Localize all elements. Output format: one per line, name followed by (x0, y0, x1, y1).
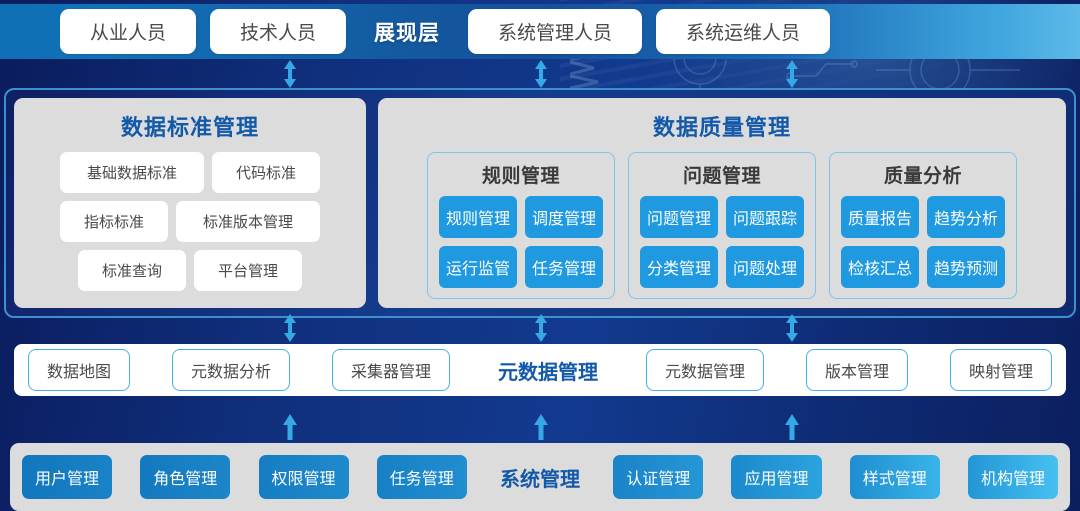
role-button-technician[interactable]: 技术人员 (210, 9, 346, 54)
quality-group-rule-management: 规则管理 规则管理 调度管理 运行监管 任务管理 (427, 152, 615, 299)
role-button-system-ops[interactable]: 系统运维人员 (656, 9, 830, 54)
double-arrow-vertical-icon (785, 60, 799, 88)
double-arrow-vertical-icon (534, 60, 548, 88)
metadata-item-mapping-management[interactable]: 映射管理 (950, 349, 1052, 391)
standards-item-indicator[interactable]: 指标标准 (60, 201, 168, 242)
system-item-role-management[interactable]: 角色管理 (140, 455, 230, 499)
quality-item-check-summary[interactable]: 检核汇总 (841, 246, 919, 288)
arrow-up-icon (283, 414, 297, 440)
system-item-auth-management[interactable]: 认证管理 (613, 455, 703, 499)
quality-item-issue-handling[interactable]: 问题处理 (726, 246, 804, 288)
connector-arrow-row-top (0, 60, 1080, 90)
standards-item-code[interactable]: 代码标准 (212, 152, 320, 193)
connector-arrow-row-middle (0, 314, 1080, 344)
data-quality-panel: 数据质量管理 规则管理 规则管理 调度管理 运行监管 任务管理 问题管理 问题管… (378, 98, 1066, 308)
quality-item-schedule-management[interactable]: 调度管理 (525, 196, 603, 238)
standards-item-version[interactable]: 标准版本管理 (176, 201, 320, 242)
metadata-item-metadata-analysis[interactable]: 元数据分析 (172, 349, 290, 391)
data-standards-items: 基础数据标准 代码标准 指标标准 标准版本管理 标准查询 平台管理 (24, 152, 356, 291)
architecture-diagram: 从业人员 技术人员 展现层 系统管理人员 系统运维人员 数据标准管理 基础数据标… (0, 0, 1080, 511)
system-item-permission-management[interactable]: 权限管理 (259, 455, 349, 499)
quality-item-runtime-monitoring[interactable]: 运行监管 (439, 246, 517, 288)
system-item-style-management[interactable]: 样式管理 (850, 455, 940, 499)
quality-group-quality-analysis: 质量分析 质量报告 趋势分析 检核汇总 趋势预测 (829, 152, 1017, 299)
quality-item-trend-forecast[interactable]: 趋势预测 (927, 246, 1005, 288)
system-item-app-management[interactable]: 应用管理 (731, 455, 821, 499)
role-button-system-admin[interactable]: 系统管理人员 (468, 9, 642, 54)
double-arrow-vertical-icon (283, 314, 297, 342)
connector-arrow-row-bottom (0, 414, 1080, 444)
quality-group-title: 规则管理 (482, 161, 560, 188)
data-standards-panel: 数据标准管理 基础数据标准 代码标准 指标标准 标准版本管理 标准查询 平台管理 (14, 98, 366, 308)
double-arrow-vertical-icon (785, 314, 799, 342)
quality-group-issue-management: 问题管理 问题管理 问题跟踪 分类管理 问题处理 (628, 152, 816, 299)
quality-item-task-management[interactable]: 任务管理 (525, 246, 603, 288)
quality-item-trend-analysis[interactable]: 趋势分析 (927, 196, 1005, 238)
system-item-org-management[interactable]: 机构管理 (968, 455, 1058, 499)
system-layer-panel: 用户管理 角色管理 权限管理 任务管理 系统管理 认证管理 应用管理 样式管理 … (10, 443, 1070, 511)
core-modules-band: 数据标准管理 基础数据标准 代码标准 指标标准 标准版本管理 标准查询 平台管理… (4, 88, 1076, 318)
quality-item-category-management[interactable]: 分类管理 (640, 246, 718, 288)
system-item-task-management[interactable]: 任务管理 (377, 455, 467, 499)
data-standards-title: 数据标准管理 (121, 110, 259, 142)
double-arrow-vertical-icon (283, 60, 297, 88)
standards-item-query[interactable]: 标准查询 (78, 250, 186, 291)
data-quality-title: 数据质量管理 (653, 110, 791, 142)
metadata-item-data-map[interactable]: 数据地图 (28, 349, 130, 391)
metadata-item-collector-management[interactable]: 采集器管理 (332, 349, 450, 391)
standards-item-basic-data[interactable]: 基础数据标准 (60, 152, 204, 193)
metadata-item-metadata-management[interactable]: 元数据管理 (646, 349, 764, 391)
double-arrow-vertical-icon (534, 314, 548, 342)
metadata-layer-label: 元数据管理 (492, 356, 604, 385)
quality-group-title: 问题管理 (683, 161, 761, 188)
quality-item-issue-tracking[interactable]: 问题跟踪 (726, 196, 804, 238)
data-quality-groups: 规则管理 规则管理 调度管理 运行监管 任务管理 问题管理 问题管理 问题跟踪 … (388, 152, 1056, 299)
role-button-practitioner[interactable]: 从业人员 (60, 9, 196, 54)
arrow-up-icon (785, 414, 799, 440)
quality-item-quality-report[interactable]: 质量报告 (841, 196, 919, 238)
arrow-up-icon (534, 414, 548, 440)
standards-item-platform[interactable]: 平台管理 (194, 250, 302, 291)
quality-item-rule-management[interactable]: 规则管理 (439, 196, 517, 238)
presentation-layer-bar: 从业人员 技术人员 展现层 系统管理人员 系统运维人员 (0, 4, 1080, 59)
quality-item-issue-management[interactable]: 问题管理 (640, 196, 718, 238)
system-item-user-management[interactable]: 用户管理 (22, 455, 112, 499)
metadata-item-version-management[interactable]: 版本管理 (806, 349, 908, 391)
system-layer-label: 系统管理 (495, 463, 585, 492)
presentation-layer-label: 展现层 (374, 17, 440, 47)
quality-group-title: 质量分析 (884, 161, 962, 188)
metadata-layer-bar: 数据地图 元数据分析 采集器管理 元数据管理 元数据管理 版本管理 映射管理 (14, 344, 1066, 396)
